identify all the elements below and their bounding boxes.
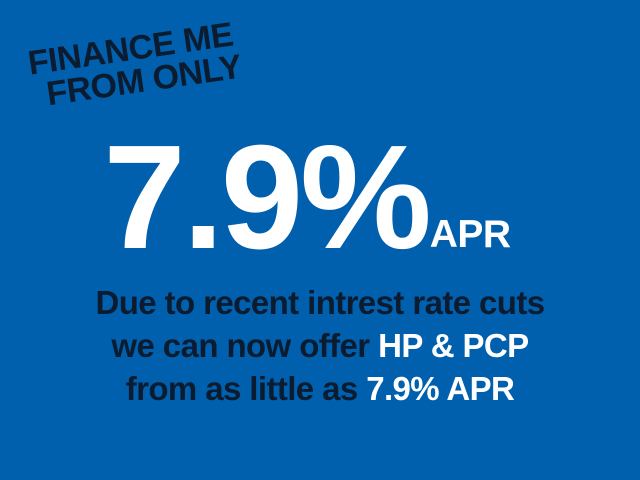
copy-line-1: Due to recent intrest rate cuts — [0, 281, 640, 324]
copy-line-2: we can now offer HP & PCP — [0, 324, 640, 367]
copy-line-2-text: we can now offer — [111, 327, 378, 364]
headline-rate: 7.9% APR — [0, 134, 640, 260]
rate-suffix-apr: APR — [430, 215, 511, 260]
finance-promo-banner: FINANCE ME FROM ONLY 7.9% APR Due to rec… — [0, 0, 640, 480]
copy-line-3-highlight: 7.9% APR — [366, 370, 514, 407]
promo-body-copy: Due to recent intrest rate cuts we can n… — [0, 281, 640, 410]
kicker-headline: FINANCE ME FROM ONLY — [26, 18, 244, 114]
copy-line-3-text: from as little as — [126, 370, 366, 407]
copy-line-3: from as little as 7.9% APR — [0, 367, 640, 410]
copy-line-2-highlight: HP & PCP — [378, 327, 528, 364]
rate-value: 7.9% — [103, 136, 428, 260]
